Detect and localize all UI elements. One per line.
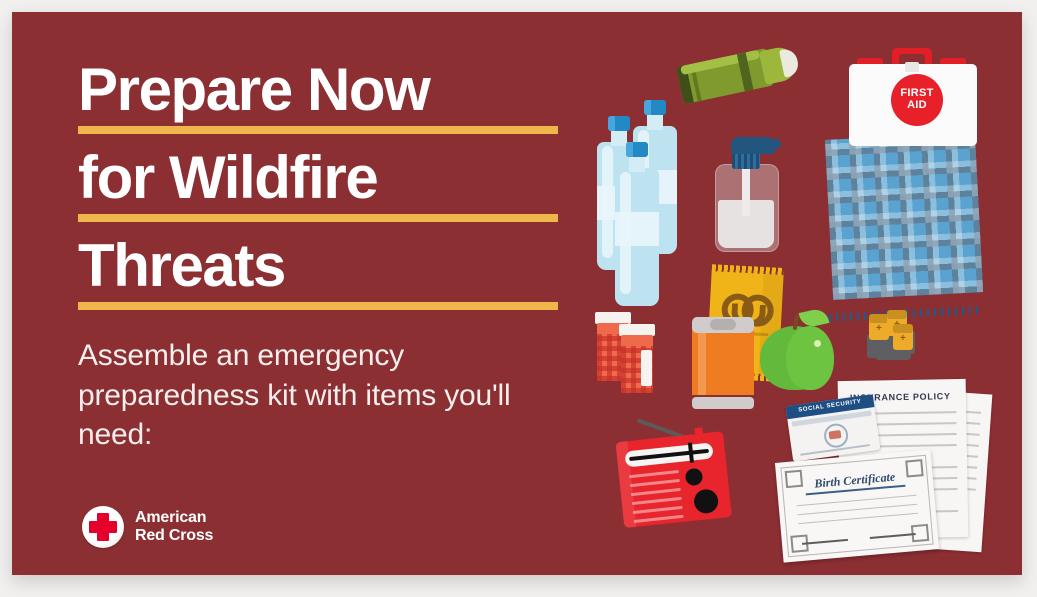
logo-line-2: Red Cross	[135, 527, 213, 545]
documents-group: INSURANCE POLICY SOCIAL SECURITY Birth C…	[779, 370, 1019, 560]
headline-underline-3	[78, 302, 558, 310]
text-column: Prepare Now for Wildfire Threats Assembl…	[78, 60, 558, 455]
blanket-icon	[829, 136, 989, 311]
headline-line-3-text: Threats	[78, 236, 285, 296]
headline-line-3: Threats	[78, 236, 558, 310]
flashlight-icon	[676, 42, 804, 106]
poster-card: Prepare Now for Wildfire Threats Assembl…	[12, 12, 1022, 575]
first-aid-kit-icon: FIRST AID	[845, 48, 985, 152]
subheading: Assemble an emergency preparedness kit w…	[78, 336, 528, 455]
hand-sanitizer-icon	[715, 122, 783, 254]
poster-canvas: Prepare Now for Wildfire Threats Assembl…	[0, 0, 1037, 597]
headline-underline-2	[78, 214, 558, 222]
headline-line-1-text: Prepare Now	[78, 60, 429, 120]
pill-bottle-icon	[619, 324, 655, 396]
headline-line-2-text: for Wildfire	[78, 148, 377, 208]
logo-line-1: American	[135, 509, 213, 527]
headline-line-2: for Wildfire	[78, 148, 558, 222]
birth-certificate-document: Birth Certificate	[775, 449, 939, 562]
logo-wordmark: American Red Cross	[135, 509, 213, 545]
canned-food-icon	[692, 317, 754, 403]
headline-line-1: Prepare Now	[78, 60, 558, 134]
water-bottle-icon	[615, 142, 661, 312]
american-red-cross-logo: American Red Cross	[82, 506, 213, 548]
first-aid-label-2: AID	[900, 100, 933, 112]
supplies-illustration: FIRST AID	[557, 12, 1022, 575]
page-title: Prepare Now for Wildfire Threats	[78, 60, 558, 310]
batteries-icon: + + +	[863, 310, 927, 366]
red-cross-icon	[82, 506, 124, 548]
radio-icon	[613, 408, 745, 538]
headline-underline-1	[78, 126, 558, 134]
first-aid-badge: FIRST AID	[891, 74, 943, 126]
